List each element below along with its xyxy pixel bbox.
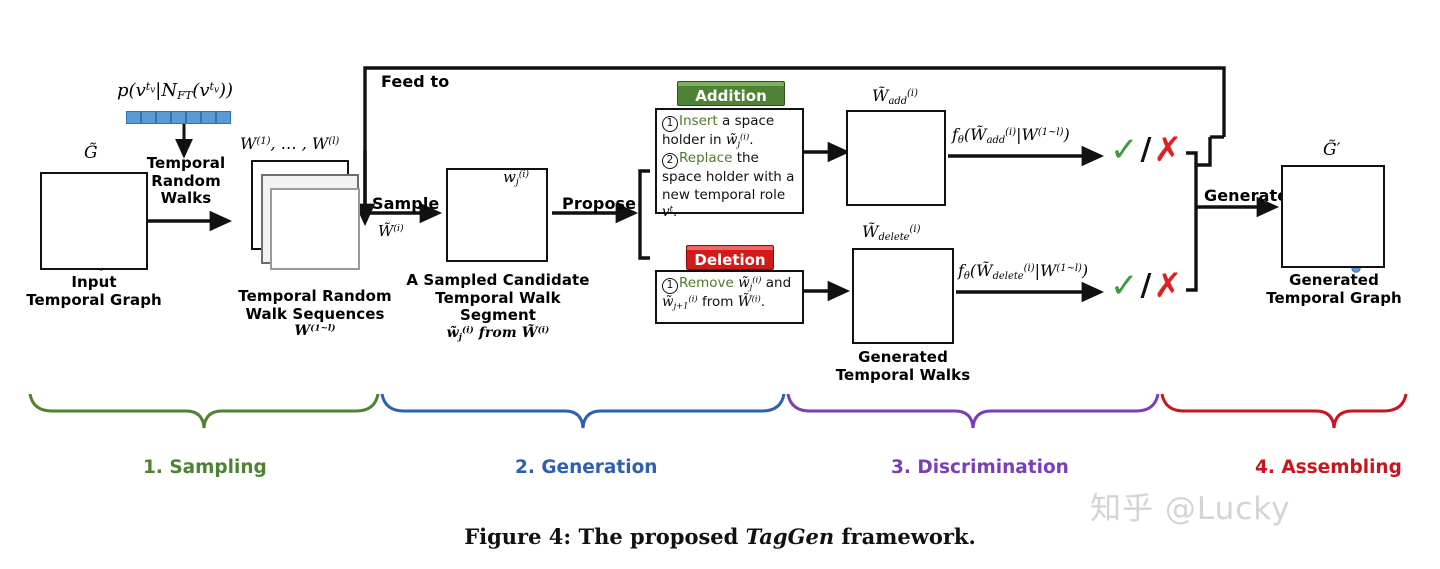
candidate-caption: A Sampled Candidate Temporal Walk Segmen… [400, 272, 596, 342]
verdict-separator: / [1141, 135, 1152, 165]
phase-label-assembling: 4. Assembling [1255, 457, 1402, 478]
deletion-step-1-math-a: w̃j(i) [738, 275, 761, 291]
input-graph-box [40, 172, 148, 270]
deletion-banner-cap [687, 246, 773, 250]
generated-walks-caption: Generated Temporal Walks [808, 349, 998, 384]
addition-step-1-number: 1 [662, 116, 678, 132]
generated-graph-caption-line2: Temporal Graph [1248, 290, 1420, 308]
add-walk-box [846, 110, 946, 206]
walk-sequences-symbol: W(1), … , W(l) [240, 134, 339, 153]
temporal-random-walks-label: Temporal Random Walks [140, 155, 232, 208]
addition-step-1-verb: Insert [679, 113, 718, 129]
addition-step-1: 1Insert a space holder in w̃j(i). [662, 113, 797, 150]
trw-line2: Random [140, 173, 232, 191]
walk-caption-line2: Walk Sequences [215, 306, 415, 324]
caption-suffix: framework. [834, 524, 976, 549]
sample-label: Sample [372, 194, 439, 213]
addition-step-box: 1Insert a space holder in w̃j(i). 2Repla… [655, 108, 804, 214]
input-graph-caption: Input Temporal Graph [8, 274, 180, 309]
generated-graph-caption-line1: Generated [1248, 272, 1420, 290]
verdict-deletion: ✓ / ✗ [1110, 271, 1182, 301]
deletion-banner-label: Deletion [694, 251, 765, 269]
caption-model-name: TagGen [746, 524, 834, 549]
deletion-step-1-end: . [761, 294, 765, 310]
delete-walk-box [852, 248, 954, 344]
walk-sequences-caption: Temporal Random Walk Sequences W(1~l) [215, 288, 415, 340]
addition-step-2-end: . [673, 204, 677, 220]
deletion-step-1: 1Remove w̃j(i) and w̃j+1(i) from W̃(i). [662, 275, 797, 312]
propose-label: Propose [562, 194, 636, 213]
figure-caption: Figure 4: The proposed TagGen framework. [0, 524, 1440, 549]
candidate-caption-line1: A Sampled Candidate [400, 272, 596, 290]
generated-graph-symbol: G̃′ [1323, 140, 1340, 160]
deletion-banner: Deletion [686, 245, 774, 270]
verdict-addition: ✓ / ✗ [1110, 135, 1182, 165]
phase-label-discrimination: 3. Discrimination [891, 457, 1069, 478]
watermark: 知乎 @Lucky [1090, 483, 1290, 528]
trw-line3: Walks [140, 190, 232, 208]
addition-banner-cap [678, 82, 784, 86]
generated-walks-line2: Temporal Walks [808, 367, 998, 385]
cross-icon: ✗ [1153, 135, 1182, 165]
check-icon: ✓ [1110, 135, 1139, 165]
deletion-step-1-math-b: w̃j+1(i) [662, 294, 698, 310]
delete-score-formula: fθ(W̃delete(i)|W(1~l)) [958, 261, 1088, 280]
generate-label: Generate [1204, 186, 1288, 205]
delete-walk-symbol: W̃delete(i) [862, 222, 920, 241]
verdict-separator: / [1141, 271, 1152, 301]
figure-root: t1 t2 t2 t3 t2 t3 t1 t3 t4 t5 [0, 0, 1440, 569]
deletion-step-1-number: 1 [662, 278, 678, 294]
merge-bracket-assembling [1186, 137, 1275, 290]
arrow-candidate-to-propose [552, 171, 650, 258]
candidate-caption-symbol: w̃j(i) from W̃(i) [400, 325, 596, 342]
phase-braces [30, 394, 1406, 428]
deletion-step-1-text: from [698, 294, 738, 310]
addition-step-2-math: vt [662, 204, 673, 220]
probability-formula: p(vtv|NFT(vtv)) [117, 80, 233, 101]
feed-to-label: Feed to [381, 72, 449, 91]
input-graph-caption-line1: Input [8, 274, 180, 292]
deletion-step-1-verb: Remove [679, 275, 734, 291]
deletion-step-box: 1Remove w̃j(i) and w̃j+1(i) from W̃(i). [655, 270, 804, 324]
generated-graph-caption: Generated Temporal Graph [1248, 272, 1420, 307]
input-graph-symbol: G̃ [84, 143, 98, 163]
candidate-walk-box [446, 168, 548, 262]
walk-card-front [270, 188, 360, 270]
walk-caption-line1: Temporal Random [215, 288, 415, 306]
addition-step-1-math: w̃j(i) [726, 132, 749, 148]
addition-step-2: 2Replace the space holder with a new tem… [662, 150, 797, 222]
trw-line1: Temporal [140, 155, 232, 173]
add-score-formula: fθ(W̃add(i)|W(1~l)) [952, 125, 1070, 144]
cross-icon: ✗ [1153, 271, 1182, 301]
input-graph-caption-line2: Temporal Graph [8, 292, 180, 310]
add-walk-symbol: W̃add(i) [872, 86, 918, 105]
addition-step-1-end: . [749, 132, 753, 148]
addition-banner: Addition [677, 81, 785, 106]
deletion-step-1-math-c: W̃(i) [738, 294, 761, 310]
generated-graph-box [1281, 165, 1385, 268]
phase-label-generation: 2. Generation [515, 457, 657, 478]
check-icon: ✓ [1110, 271, 1139, 301]
phase-label-sampling: 1. Sampling [143, 457, 267, 478]
addition-banner-label: Addition [695, 87, 767, 105]
candidate-marker-symbol: wj(i) [503, 168, 529, 186]
deletion-step-1-mid: and [761, 275, 791, 291]
candidate-caption-line2: Temporal Walk Segment [400, 290, 596, 325]
probability-bar [126, 111, 231, 124]
generated-walks-line1: Generated [808, 349, 998, 367]
walk-caption-symbol: W(1~l) [215, 323, 415, 340]
addition-step-2-verb: Replace [679, 150, 732, 166]
addition-step-2-number: 2 [662, 153, 678, 169]
caption-prefix: Figure 4: The proposed [464, 524, 745, 549]
sample-symbol: W̃(i) [378, 222, 404, 240]
